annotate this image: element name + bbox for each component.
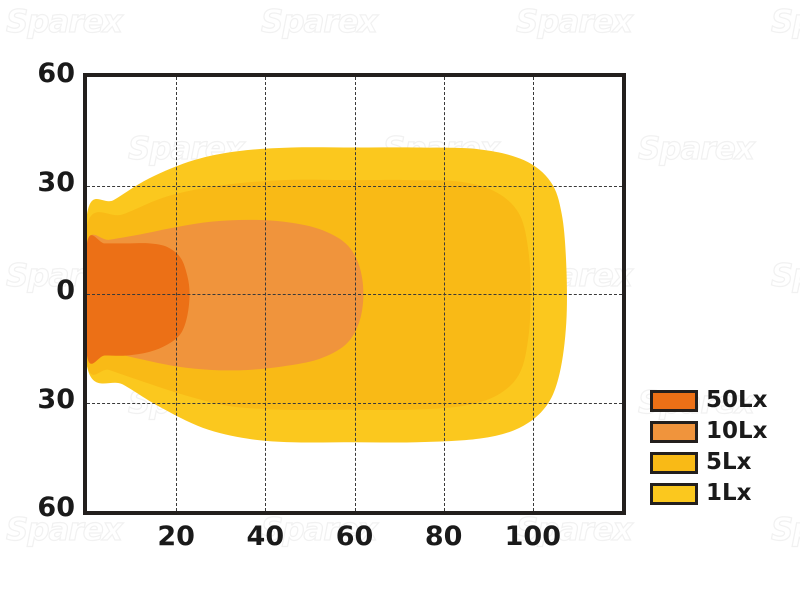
legend: 50Lx10Lx5Lx1Lx [650, 386, 768, 510]
legend-label: 5Lx [706, 451, 752, 474]
x-axis-tick-label: 80 [404, 521, 484, 552]
legend-item-10lx[interactable]: 10Lx [650, 417, 768, 446]
legend-item-1lx[interactable]: 1Lx [650, 479, 768, 508]
legend-label: 1Lx [706, 482, 752, 505]
x-axis-tick-label: 100 [493, 521, 573, 552]
y-axis-tick-label: 30 [15, 384, 75, 415]
y-axis-tick-label: 60 [15, 492, 75, 523]
gridline-horizontal [87, 403, 622, 404]
legend-item-50lx[interactable]: 50Lx [650, 386, 768, 415]
y-axis-tick-label: 30 [15, 167, 75, 198]
legend-swatch [650, 421, 698, 443]
legend-label: 10Lx [706, 420, 768, 443]
legend-label: 50Lx [706, 389, 768, 412]
legend-swatch [650, 483, 698, 505]
legend-swatch [650, 390, 698, 412]
plot-area [83, 73, 626, 515]
legend-swatch [650, 452, 698, 474]
y-axis-tick-label: 60 [15, 58, 75, 89]
gridline-horizontal [87, 186, 622, 187]
plot-inner [87, 77, 622, 511]
y-axis-tick-label: 0 [15, 275, 75, 306]
x-axis-tick-label: 60 [315, 521, 395, 552]
legend-item-5lx[interactable]: 5Lx [650, 448, 768, 477]
beam-pattern-chart: 60300306020406080100 50Lx10Lx5Lx1Lx [0, 0, 800, 600]
x-axis-tick-label: 40 [225, 521, 305, 552]
x-axis-tick-label: 20 [136, 521, 216, 552]
gridline-horizontal [87, 294, 622, 295]
